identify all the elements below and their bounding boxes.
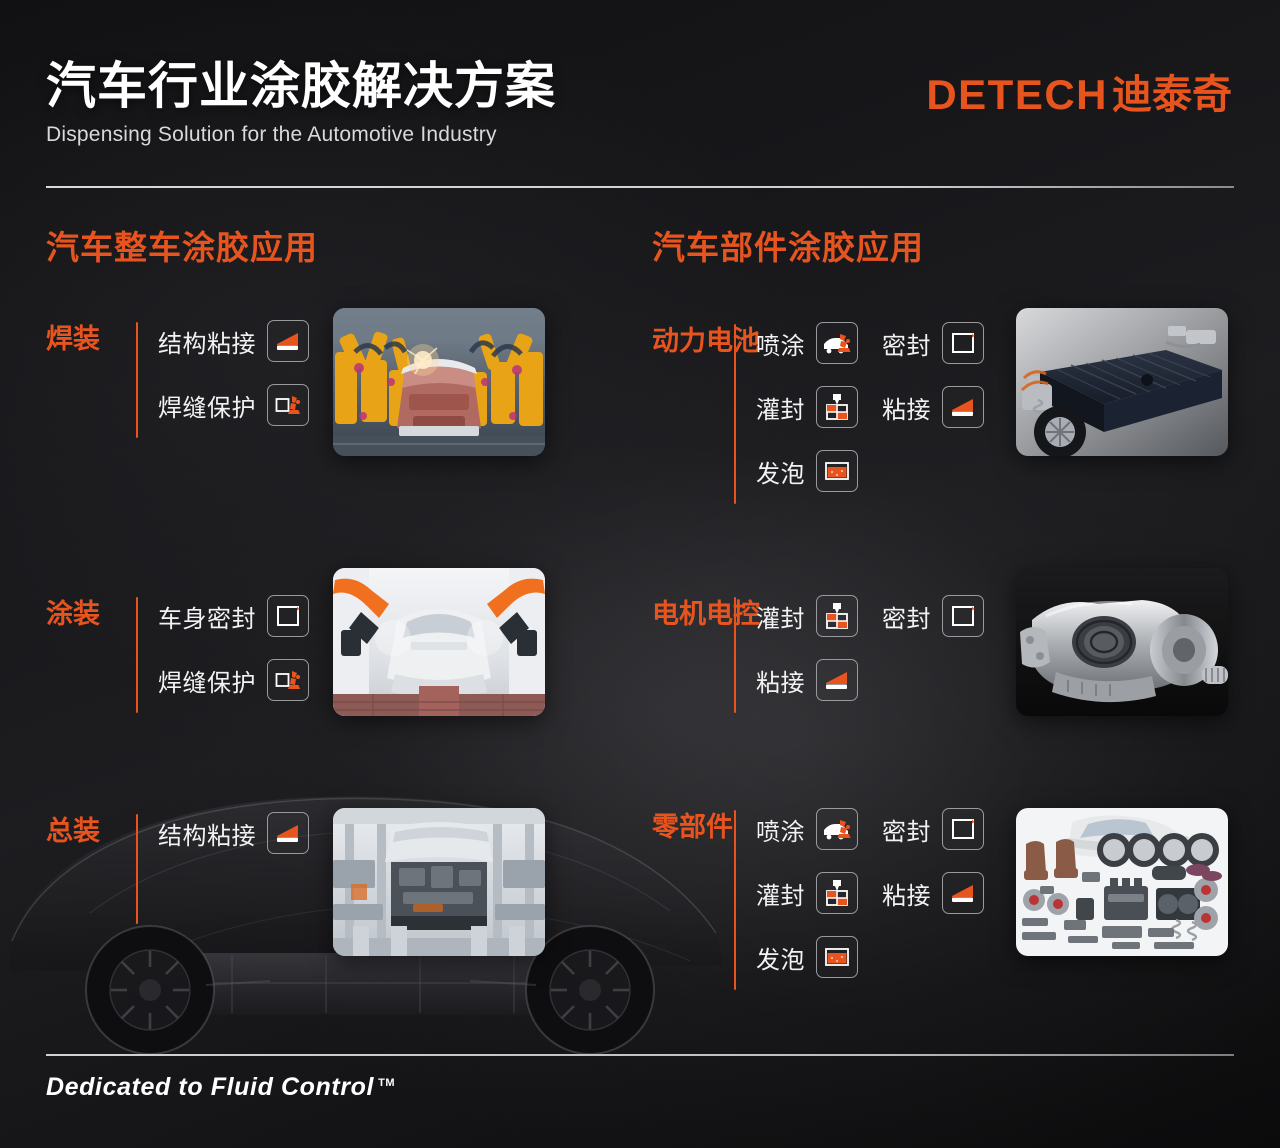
item-label: 焊缝保护 <box>158 663 256 698</box>
item-bonding[interactable]: 粘接 <box>756 659 858 701</box>
structural-bonding-icon <box>942 872 984 914</box>
sealing-square-icon <box>942 595 984 637</box>
item-weld-seam-protection[interactable]: 焊缝保护 <box>158 384 309 426</box>
item-bonding[interactable]: 粘接 <box>882 872 984 914</box>
section-divider-bar <box>136 597 138 713</box>
item-foaming[interactable]: 发泡 <box>756 936 858 978</box>
item-label: 喷涂 <box>756 812 805 847</box>
item-bonding[interactable]: 粘接 <box>882 386 984 428</box>
section-painting: 涂装 车身密封 焊缝保护 <box>46 595 309 713</box>
item-label: 密封 <box>882 326 931 361</box>
poster-root: 汽车行业涂胶解决方案 Dispensing Solution for the A… <box>0 0 1280 1148</box>
category-label-final-assembly: 总装 <box>46 812 128 849</box>
item-label: 灌封 <box>756 599 805 634</box>
item-label: 结构粘接 <box>158 816 256 851</box>
category-label-painting: 涂装 <box>46 595 128 632</box>
category-label-power-battery: 动力电池 <box>652 322 726 359</box>
structural-bonding-icon <box>816 659 858 701</box>
column-component-applications: 汽车部件涂胶应用 <box>652 228 1234 268</box>
section-power-battery: 动力电池 喷涂 密封 灌封 粘接 <box>652 322 984 504</box>
item-sealing[interactable]: 密封 <box>882 595 984 637</box>
item-label: 发泡 <box>756 454 805 489</box>
section-components: 零部件 喷涂 密封 灌封 粘接 <box>652 808 984 990</box>
section-divider-bar <box>734 810 736 990</box>
section-divider-bar <box>136 322 138 438</box>
section-divider-bar <box>734 597 736 713</box>
section-divider-bar <box>136 814 138 924</box>
item-label: 灌封 <box>756 876 805 911</box>
potting-icon <box>816 386 858 428</box>
category-label-motor-control: 电机电控 <box>652 595 726 632</box>
section-motor-control: 电机电控 灌封 密封 粘接 <box>652 595 984 713</box>
item-weld-seam-protection[interactable]: 焊缝保护 <box>158 659 309 701</box>
category-label-welding: 焊装 <box>46 320 128 357</box>
item-sealing[interactable]: 密封 <box>882 808 984 850</box>
item-spray-coating[interactable]: 喷涂 <box>756 322 858 364</box>
column-heading-right: 汽车部件涂胶应用 <box>652 228 1234 268</box>
item-foaming[interactable]: 发泡 <box>756 450 858 492</box>
emotor-drivetrain-photo <box>1016 568 1228 716</box>
weld-seam-robot-icon <box>267 659 309 701</box>
section-final-assembly: 总装 结构粘接 <box>46 812 309 924</box>
footer-tagline: Dedicated to Fluid ControlTM <box>46 1073 395 1102</box>
item-label: 结构粘接 <box>158 324 256 359</box>
weld-seam-robot-icon <box>267 384 309 426</box>
tagline-text: Dedicated to Fluid Control <box>46 1073 374 1101</box>
trademark-symbol: TM <box>378 1077 395 1089</box>
structural-bonding-icon <box>267 320 309 362</box>
item-label: 发泡 <box>756 940 805 975</box>
category-label-components: 零部件 <box>652 808 726 845</box>
header: 汽车行业涂胶解决方案 Dispensing Solution for the A… <box>46 58 1234 186</box>
sealing-square-icon <box>942 322 984 364</box>
sealing-square-icon <box>267 595 309 637</box>
item-label: 密封 <box>882 812 931 847</box>
structural-bonding-icon <box>267 812 309 854</box>
potting-icon <box>816 595 858 637</box>
logo-wordmark-cn: 迪泰奇 <box>1112 75 1232 115</box>
battery-pack-photo <box>1016 308 1228 456</box>
spray-coating-robot-icon <box>816 808 858 850</box>
item-label: 喷涂 <box>756 326 805 361</box>
page-subtitle-en: Dispensing Solution for the Automotive I… <box>46 123 1234 147</box>
item-potting[interactable]: 灌封 <box>756 386 858 428</box>
column-vehicle-applications: 汽车整车涂胶应用 <box>46 228 606 268</box>
footer-divider <box>46 1054 1234 1056</box>
final-assembly-photo <box>333 808 545 956</box>
item-label: 灌封 <box>756 390 805 425</box>
item-body-sealing[interactable]: 车身密封 <box>158 595 309 637</box>
column-heading-left: 汽车整车涂胶应用 <box>46 228 606 268</box>
foaming-icon <box>816 450 858 492</box>
item-label: 焊缝保护 <box>158 388 256 423</box>
item-structural-bonding[interactable]: 结构粘接 <box>158 320 309 362</box>
brand-logo: DETECH 迪泰奇 <box>926 74 1232 116</box>
item-potting[interactable]: 灌封 <box>756 872 858 914</box>
section-divider-bar <box>734 324 736 504</box>
item-label: 粘接 <box>882 390 931 425</box>
item-label: 粘接 <box>756 663 805 698</box>
potting-icon <box>816 872 858 914</box>
item-label: 车身密封 <box>158 599 256 634</box>
item-structural-bonding[interactable]: 结构粘接 <box>158 812 309 854</box>
paint-booth-photo <box>333 568 545 716</box>
sealing-square-icon <box>942 808 984 850</box>
item-label: 密封 <box>882 599 931 634</box>
structural-bonding-icon <box>942 386 984 428</box>
logo-wordmark: DETECH <box>926 74 1108 116</box>
welding-robot-line-photo <box>333 308 545 456</box>
item-sealing[interactable]: 密封 <box>882 322 984 364</box>
header-divider <box>46 186 1234 188</box>
foaming-icon <box>816 936 858 978</box>
auto-parts-exploded-photo <box>1016 808 1228 956</box>
item-label: 粘接 <box>882 876 931 911</box>
item-potting[interactable]: 灌封 <box>756 595 858 637</box>
spray-coating-robot-icon <box>816 322 858 364</box>
section-welding: 焊装 结构粘接 焊缝保护 <box>46 320 309 438</box>
item-spray-coating[interactable]: 喷涂 <box>756 808 858 850</box>
